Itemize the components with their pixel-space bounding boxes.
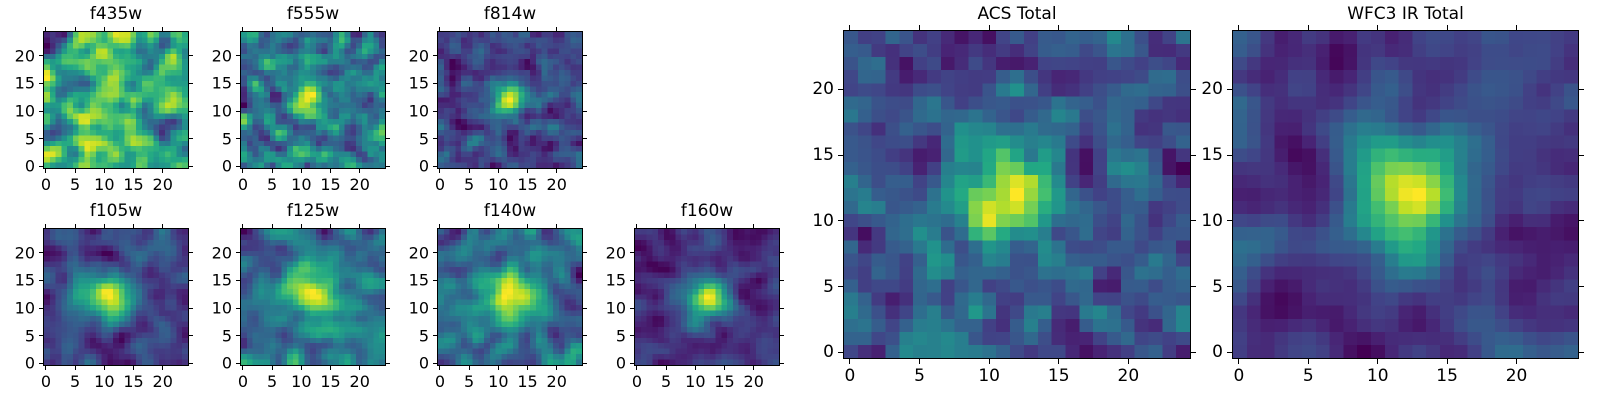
x-axis-tick	[1516, 359, 1517, 364]
x-axis-tick	[104, 169, 105, 173]
x-axis-tick	[498, 169, 499, 173]
y-tick-label: 15	[790, 145, 834, 165]
y-axis-tick	[1227, 220, 1232, 221]
y-tick-label: 0	[582, 354, 626, 373]
x-axis-tick-top	[498, 27, 499, 31]
y-tick-label: 10	[0, 102, 35, 121]
x-axis-tick	[753, 366, 754, 370]
y-axis-tick	[433, 335, 437, 336]
y-axis-tick-right	[780, 363, 784, 364]
heatmap-canvas	[44, 32, 188, 168]
y-tick-label: 10	[385, 102, 429, 121]
x-tick-label: 15	[320, 372, 340, 391]
x-tick-label: 20	[1118, 366, 1140, 386]
x-axis-tick	[498, 366, 499, 370]
x-axis-tick	[556, 366, 557, 370]
x-axis-tick-top	[104, 27, 105, 31]
y-tick-label: 5	[0, 129, 35, 148]
x-tick-label: 5	[914, 366, 925, 386]
x-tick-label: 10	[685, 372, 705, 391]
y-axis-tick	[838, 89, 843, 90]
y-tick-label: 15	[385, 271, 429, 290]
heatmap-f125w	[240, 228, 386, 366]
y-axis-tick	[39, 83, 43, 84]
x-axis-tick-top	[724, 224, 725, 228]
y-tick-label: 0	[188, 157, 232, 176]
y-tick-label: 10	[1179, 211, 1223, 231]
x-axis-tick-top	[75, 27, 76, 31]
x-axis-tick	[989, 359, 990, 364]
x-tick-label: 0	[41, 175, 51, 194]
y-tick-label: 15	[188, 271, 232, 290]
y-axis-tick-right	[780, 335, 784, 336]
x-tick-label: 15	[1048, 366, 1070, 386]
y-axis-tick	[433, 252, 437, 253]
y-axis-tick-right	[1579, 220, 1584, 221]
y-axis-tick	[838, 352, 843, 353]
x-tick-label: 10	[1367, 366, 1389, 386]
panel-title-f160w: f160w	[634, 201, 780, 221]
x-axis-tick	[1238, 359, 1239, 364]
x-tick-label: 20	[350, 372, 370, 391]
x-tick-label: 5	[1303, 366, 1314, 386]
x-axis-tick-top	[636, 224, 637, 228]
x-axis-tick-top	[1516, 25, 1517, 30]
y-tick-label: 5	[188, 326, 232, 345]
x-axis-tick	[242, 169, 243, 173]
y-axis-tick	[39, 166, 43, 167]
y-axis-tick	[39, 138, 43, 139]
x-axis-tick-top	[359, 27, 360, 31]
y-axis-tick	[39, 280, 43, 281]
x-tick-label: 10	[94, 372, 114, 391]
y-axis-tick	[1227, 286, 1232, 287]
panel-f140w: f140w 0510152005101520	[437, 197, 583, 397]
y-tick-label: 20	[1179, 79, 1223, 99]
y-axis-tick	[236, 138, 240, 139]
x-tick-label: 5	[267, 372, 277, 391]
x-tick-label: 20	[350, 175, 370, 194]
heatmap-f105w	[43, 228, 189, 366]
y-axis-tick	[39, 55, 43, 56]
y-axis-tick	[39, 363, 43, 364]
y-tick-label: 20	[582, 243, 626, 262]
panel-f814w: f814w 0510152005101520	[437, 0, 583, 200]
x-axis-tick-top	[1377, 25, 1378, 30]
heatmap-canvas	[635, 229, 779, 365]
y-tick-label: 5	[0, 326, 35, 345]
y-tick-label: 15	[582, 271, 626, 290]
y-axis-tick	[838, 286, 843, 287]
y-axis-tick	[236, 83, 240, 84]
x-tick-label: 15	[1436, 366, 1458, 386]
x-axis-tick	[1308, 359, 1309, 364]
y-tick-label: 0	[790, 342, 834, 362]
x-tick-label: 0	[845, 366, 856, 386]
x-axis-tick-top	[272, 224, 273, 228]
y-axis-tick	[838, 155, 843, 156]
x-axis-tick-top	[242, 27, 243, 31]
x-tick-label: 10	[94, 175, 114, 194]
y-tick-label: 10	[790, 211, 834, 231]
y-tick-label: 10	[582, 299, 626, 318]
x-axis-tick	[301, 169, 302, 173]
y-axis-tick	[39, 335, 43, 336]
panel-title-acs-total: ACS Total	[843, 4, 1191, 24]
x-tick-label: 5	[267, 175, 277, 194]
y-axis-tick	[433, 138, 437, 139]
panel-f125w: f125w 0510152005101520	[240, 197, 386, 397]
heatmap-canvas	[438, 32, 582, 168]
figure-canvas: f435w 0510152005101520 f555w 05101520051…	[0, 0, 1600, 400]
x-tick-label: 5	[661, 372, 671, 391]
x-axis-tick-top	[359, 224, 360, 228]
x-axis-tick-top	[469, 224, 470, 228]
y-axis-tick	[1227, 155, 1232, 156]
x-tick-label: 0	[41, 372, 51, 391]
x-axis-tick-top	[1238, 25, 1239, 30]
x-axis-tick	[162, 366, 163, 370]
y-tick-label: 15	[385, 74, 429, 93]
y-tick-label: 0	[0, 157, 35, 176]
y-axis-tick-right	[583, 166, 587, 167]
y-tick-label: 10	[188, 299, 232, 318]
x-tick-label: 20	[547, 372, 567, 391]
x-tick-label: 0	[1234, 366, 1245, 386]
y-axis-tick	[39, 111, 43, 112]
y-tick-label: 0	[0, 354, 35, 373]
x-axis-tick-top	[133, 27, 134, 31]
y-axis-tick	[39, 252, 43, 253]
x-axis-tick-top	[849, 25, 850, 30]
x-axis-tick	[1447, 359, 1448, 364]
y-tick-label: 20	[790, 79, 834, 99]
heatmap-f140w	[437, 228, 583, 366]
x-axis-tick-top	[1128, 25, 1129, 30]
x-axis-tick	[133, 366, 134, 370]
panel-title-f105w: f105w	[43, 201, 189, 221]
x-axis-tick-top	[753, 224, 754, 228]
y-axis-tick-right	[1579, 89, 1584, 90]
y-tick-label: 0	[1179, 342, 1223, 362]
heatmap-canvas	[44, 229, 188, 365]
y-tick-label: 15	[0, 74, 35, 93]
heatmap-canvas	[844, 31, 1190, 358]
x-tick-label: 0	[435, 372, 445, 391]
heatmap-f160w	[634, 228, 780, 366]
y-axis-tick	[630, 363, 634, 364]
x-axis-tick-top	[330, 27, 331, 31]
x-axis-tick-top	[1447, 25, 1448, 30]
y-tick-label: 20	[0, 46, 35, 65]
y-tick-label: 5	[1179, 277, 1223, 297]
y-axis-tick	[433, 83, 437, 84]
x-axis-tick-top	[498, 224, 499, 228]
y-axis-tick	[433, 111, 437, 112]
x-tick-label: 10	[291, 175, 311, 194]
x-axis-tick-top	[45, 224, 46, 228]
y-axis-tick	[433, 363, 437, 364]
x-axis-tick	[556, 169, 557, 173]
panel-title-f555w: f555w	[240, 4, 386, 24]
x-tick-label: 5	[464, 372, 474, 391]
x-tick-label: 10	[488, 175, 508, 194]
x-tick-label: 5	[464, 175, 474, 194]
x-tick-label: 15	[320, 175, 340, 194]
x-tick-label: 20	[547, 175, 567, 194]
panel-f105w: f105w 0510152005101520	[43, 197, 189, 397]
y-axis-tick	[236, 55, 240, 56]
heatmap-acs-total	[843, 30, 1191, 359]
panel-acs-total: ACS Total 0510152005101520	[843, 0, 1191, 400]
x-axis-tick	[1128, 359, 1129, 364]
x-axis-tick-top	[556, 224, 557, 228]
y-tick-label: 20	[385, 46, 429, 65]
heatmap-canvas	[1233, 31, 1578, 358]
y-axis-tick	[630, 252, 634, 253]
y-axis-tick-right	[583, 55, 587, 56]
panel-f555w: f555w 0510152005101520	[240, 0, 386, 200]
panel-f435w: f435w 0510152005101520	[43, 0, 189, 200]
y-tick-label: 10	[0, 299, 35, 318]
x-axis-tick-top	[989, 25, 990, 30]
x-axis-tick	[527, 366, 528, 370]
x-tick-label: 15	[517, 372, 537, 391]
x-axis-tick	[330, 366, 331, 370]
x-tick-label: 10	[488, 372, 508, 391]
heatmap-wfc3-ir-total	[1232, 30, 1579, 359]
y-axis-tick-right	[780, 252, 784, 253]
y-axis-tick-right	[780, 280, 784, 281]
y-tick-label: 15	[1179, 145, 1223, 165]
x-tick-label: 0	[632, 372, 642, 391]
x-tick-label: 20	[744, 372, 764, 391]
y-tick-label: 20	[0, 243, 35, 262]
x-axis-tick-top	[75, 224, 76, 228]
x-tick-label: 0	[238, 372, 248, 391]
heatmap-f555w	[240, 31, 386, 169]
panel-title-wfc3-ir-total: WFC3 IR Total	[1232, 4, 1579, 24]
x-axis-tick	[359, 169, 360, 173]
x-tick-label: 15	[714, 372, 734, 391]
x-axis-tick	[469, 169, 470, 173]
y-tick-label: 20	[188, 243, 232, 262]
x-axis-tick-top	[1308, 25, 1309, 30]
y-axis-tick	[630, 308, 634, 309]
x-axis-tick-top	[301, 27, 302, 31]
y-axis-tick-right	[1579, 155, 1584, 156]
x-axis-tick	[919, 359, 920, 364]
x-tick-label: 20	[153, 175, 173, 194]
x-tick-label: 15	[517, 175, 537, 194]
y-axis-tick-right	[583, 111, 587, 112]
x-axis-tick	[45, 366, 46, 370]
x-axis-tick	[75, 169, 76, 173]
x-axis-tick	[439, 169, 440, 173]
x-tick-label: 0	[238, 175, 248, 194]
x-axis-tick-top	[45, 27, 46, 31]
x-axis-tick-top	[162, 224, 163, 228]
y-axis-tick	[1227, 89, 1232, 90]
x-axis-tick	[1377, 359, 1378, 364]
x-axis-tick-top	[330, 224, 331, 228]
x-tick-label: 15	[123, 372, 143, 391]
x-axis-tick	[636, 366, 637, 370]
x-axis-tick	[359, 366, 360, 370]
x-axis-tick-top	[527, 224, 528, 228]
x-axis-tick	[272, 366, 273, 370]
x-axis-tick	[45, 169, 46, 173]
x-axis-tick-top	[439, 224, 440, 228]
x-axis-tick-top	[469, 27, 470, 31]
x-axis-tick	[666, 366, 667, 370]
x-axis-tick-top	[1058, 25, 1059, 30]
x-axis-tick	[527, 169, 528, 173]
x-axis-tick	[695, 366, 696, 370]
x-axis-tick	[1058, 359, 1059, 364]
y-axis-tick	[630, 335, 634, 336]
x-tick-label: 15	[123, 175, 143, 194]
x-axis-tick-top	[556, 27, 557, 31]
x-axis-tick-top	[104, 224, 105, 228]
y-tick-label: 15	[188, 74, 232, 93]
y-axis-tick-right	[1579, 352, 1584, 353]
heatmap-canvas	[241, 229, 385, 365]
x-axis-tick-top	[527, 27, 528, 31]
heatmap-f814w	[437, 31, 583, 169]
y-axis-tick	[630, 280, 634, 281]
y-axis-tick-right	[1579, 286, 1584, 287]
x-tick-label: 5	[70, 175, 80, 194]
heatmap-canvas	[241, 32, 385, 168]
x-axis-tick	[242, 366, 243, 370]
y-axis-tick-right	[583, 83, 587, 84]
y-axis-tick	[236, 252, 240, 253]
y-tick-label: 20	[385, 243, 429, 262]
x-tick-label: 5	[70, 372, 80, 391]
y-axis-tick	[838, 220, 843, 221]
y-axis-tick-right	[780, 308, 784, 309]
y-axis-tick	[39, 308, 43, 309]
y-axis-tick	[433, 166, 437, 167]
x-axis-tick-top	[133, 224, 134, 228]
y-tick-label: 10	[385, 299, 429, 318]
y-tick-label: 5	[790, 277, 834, 297]
x-axis-tick-top	[242, 224, 243, 228]
x-axis-tick-top	[301, 224, 302, 228]
y-axis-tick	[1227, 352, 1232, 353]
y-tick-label: 0	[385, 354, 429, 373]
y-tick-label: 0	[188, 354, 232, 373]
x-axis-tick	[272, 169, 273, 173]
x-axis-tick	[724, 366, 725, 370]
x-axis-tick	[301, 366, 302, 370]
x-axis-tick	[133, 169, 134, 173]
x-axis-tick	[849, 359, 850, 364]
y-tick-label: 0	[385, 157, 429, 176]
y-axis-tick	[236, 363, 240, 364]
x-tick-label: 20	[1506, 366, 1528, 386]
x-tick-label: 20	[153, 372, 173, 391]
x-tick-label: 10	[978, 366, 1000, 386]
y-tick-label: 5	[188, 129, 232, 148]
y-axis-tick-right	[583, 138, 587, 139]
y-axis-tick	[433, 308, 437, 309]
panel-title-f140w: f140w	[437, 201, 583, 221]
y-tick-label: 5	[582, 326, 626, 345]
y-tick-label: 5	[385, 326, 429, 345]
x-axis-tick	[469, 366, 470, 370]
y-axis-tick	[433, 55, 437, 56]
x-tick-label: 0	[435, 175, 445, 194]
x-axis-tick	[439, 366, 440, 370]
x-axis-tick-top	[439, 27, 440, 31]
x-axis-tick-top	[272, 27, 273, 31]
x-tick-label: 10	[291, 372, 311, 391]
x-axis-tick-top	[695, 224, 696, 228]
y-axis-tick	[236, 308, 240, 309]
y-tick-label: 15	[0, 271, 35, 290]
x-axis-tick	[104, 366, 105, 370]
panel-title-f125w: f125w	[240, 201, 386, 221]
y-tick-label: 5	[385, 129, 429, 148]
heatmap-f435w	[43, 31, 189, 169]
heatmap-canvas	[438, 229, 582, 365]
y-axis-tick	[236, 166, 240, 167]
y-axis-tick	[236, 111, 240, 112]
x-axis-tick-top	[919, 25, 920, 30]
y-axis-tick	[236, 280, 240, 281]
x-axis-tick	[75, 366, 76, 370]
x-axis-tick	[162, 169, 163, 173]
x-axis-tick-top	[162, 27, 163, 31]
x-axis-tick	[330, 169, 331, 173]
y-axis-tick	[236, 335, 240, 336]
panel-title-f814w: f814w	[437, 4, 583, 24]
panel-wfc3-ir-total: WFC3 IR Total 0510152005101520	[1232, 0, 1579, 400]
panel-title-f435w: f435w	[43, 4, 189, 24]
x-axis-tick-top	[666, 224, 667, 228]
panel-f160w: f160w 0510152005101520	[634, 197, 780, 397]
y-tick-label: 10	[188, 102, 232, 121]
y-axis-tick	[433, 280, 437, 281]
y-tick-label: 20	[188, 46, 232, 65]
